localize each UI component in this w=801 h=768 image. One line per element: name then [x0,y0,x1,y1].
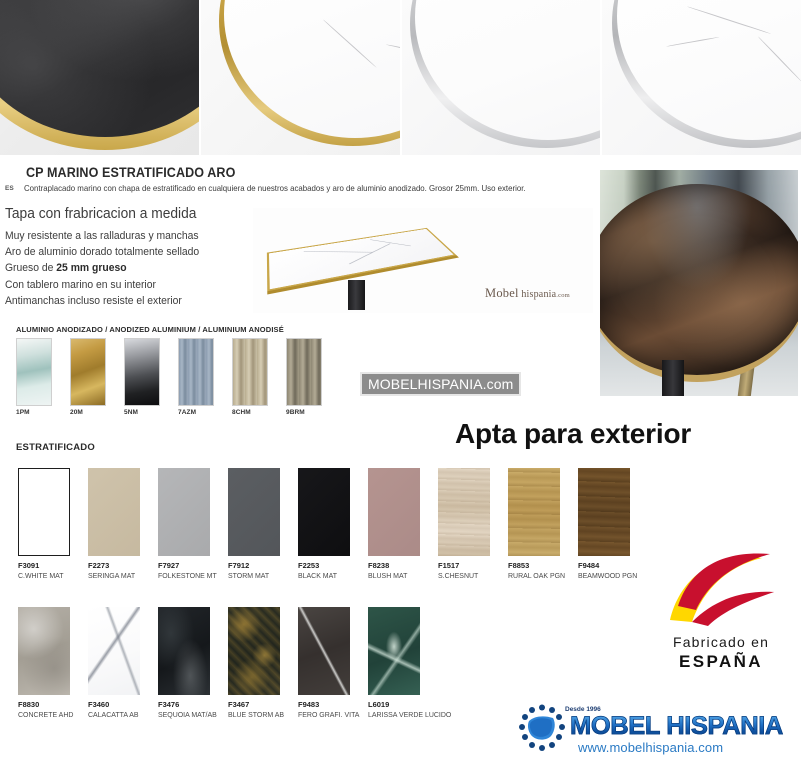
white-top-shape [415,0,601,140]
product-description: Contraplacado marino con chapa de estrat… [24,184,571,194]
laminate-swatch-name: S.CHESNUT [438,571,506,580]
aluminium-swatch-code: 20M [70,409,106,416]
made-in-spain-badge: Fabricado en ESPAÑA [648,548,794,680]
laminate-swatch-chip[interactable] [298,607,350,695]
white-marble-top-shape [617,0,801,140]
aluminium-section-heading: ALUMINIO ANODIZADO / ANODIZED ALUMINIUM … [16,325,284,334]
laminate-swatch-row-2: F8830 CONCRETE AHD F3460 CALACATTA AB F3… [18,607,438,719]
laminate-swatch-code: F3460 [88,700,158,709]
laminate-swatch-item[interactable]: F3476 SEQUOIA MAT/AB [158,607,228,719]
feature-item: Antimanchas incluso resiste el exterior [5,293,245,309]
laminate-swatch-item[interactable]: F9484 BEAMWOOD PGN [578,468,648,580]
laminate-swatch-code: F2253 [298,561,368,570]
laminate-swatch-chip[interactable] [18,468,70,556]
laminate-swatch-name: CONCRETE AHD [18,710,86,719]
aluminium-swatch-item[interactable]: 8CHM [232,338,268,416]
laminate-swatch-item[interactable]: F3091 C.WHITE MAT [18,468,88,580]
aluminium-swatch-code: 9BRM [286,409,322,416]
laminate-swatch-chip[interactable] [158,468,210,556]
hero-image-white-marble-gold-rim [201,0,400,155]
aluminium-swatch-code: 1PM [16,409,52,416]
hero-image-strip [0,0,801,155]
laminate-swatch-row-1: F3091 C.WHITE MAT F2273 SERINGA MAT F792… [18,468,648,580]
hero-image-white-plain-silver-rim [402,0,601,155]
aluminium-swatch-chip[interactable] [16,338,52,406]
aluminium-swatch-chip[interactable] [286,338,322,406]
laminate-swatch-code: F1517 [438,561,508,570]
laminate-swatch-code: F3476 [158,700,228,709]
laminate-swatch-name: BLACK MAT [298,571,366,580]
laminate-swatch-item[interactable]: F9483 FERO GRAFI. VITA [298,607,368,719]
made-in-line1: Fabricado en [648,634,794,650]
aluminium-swatch-item[interactable]: 7AZM [178,338,214,416]
laminate-swatch-chip[interactable] [88,468,140,556]
aluminium-swatch-code: 7AZM [178,409,214,416]
laminate-swatch-item[interactable]: F3460 CALACATTA AB [88,607,158,719]
hero-image-white-marble-silver-rim [602,0,801,155]
laminate-swatch-name: RURAL OAK PGN [508,571,576,580]
laminate-swatch-chip[interactable] [158,607,210,695]
feature-item: Aro de aluminio dorado totalmente sellad… [5,244,245,260]
laminate-swatch-name: SERINGA MAT [88,571,156,580]
brand-name: MOBEL HISPANIA [570,712,783,741]
laminate-swatch-name: BLUSH MAT [368,571,436,580]
laminate-swatch-chip[interactable] [18,607,70,695]
aluminium-swatch-code: 8CHM [232,409,268,416]
laminate-swatch-name: LARISSA VERDE LUCIDO [368,710,436,719]
spain-flag-icon [662,548,782,628]
hero-image-black-marble-gold-rim [0,0,199,155]
features-list: Muy resistente a las ralladuras y mancha… [5,228,255,309]
laminate-swatch-code: F7912 [228,561,298,570]
brand-logo[interactable]: Desde 1996 MOBEL HISPANIA www.mobelhispa… [518,700,793,760]
catalog-page: CP MARINO ESTRATIFICADO ARO ES Contrapla… [0,0,801,768]
laminate-swatch-name: STORM MAT [228,571,296,580]
spain-globe-icon [518,704,566,752]
aluminium-swatch-chip[interactable] [70,338,106,406]
laminate-swatch-item[interactable]: F1517 S.CHESNUT [438,468,508,580]
laminate-swatch-item[interactable]: F2253 BLACK MAT [298,468,368,580]
feature-item: Grueso de 25 mm grueso [5,260,245,276]
made-in-line2: ESPAÑA [648,652,794,672]
laminate-swatch-chip[interactable] [438,468,490,556]
laminate-swatch-code: F8830 [18,700,88,709]
feature-item: Con tablero marino en su interior [5,277,245,293]
product-photo-square-table: Mobel hispania.com [253,208,593,313]
laminate-swatch-item[interactable]: F7912 STORM MAT [228,468,298,580]
laminate-swatch-chip[interactable] [368,468,420,556]
laminate-swatch-chip[interactable] [228,468,280,556]
laminate-swatch-code: L6019 [368,700,438,709]
laminate-swatch-item[interactable]: F3467 BLUE STORM AB [228,607,298,719]
laminate-swatch-code: F8853 [508,561,578,570]
laminate-section-heading: ESTRATIFICADO [16,442,95,453]
laminate-swatch-code: F7927 [158,561,228,570]
aluminium-swatch-item[interactable]: 5NM [124,338,160,416]
laminate-swatch-chip[interactable] [88,607,140,695]
aluminium-swatch-item[interactable]: 20M [70,338,106,416]
table-base-shape [662,360,684,396]
aluminium-swatch-item[interactable]: 9BRM [286,338,322,416]
laminate-swatch-name: FOLKESTONE MT [158,571,226,580]
table-leg-shape [348,280,365,310]
laminate-swatch-item[interactable]: F7927 FOLKESTONE MT [158,468,228,580]
aluminium-swatch-chip[interactable] [178,338,214,406]
dark-marble-top-shape [600,184,798,382]
laminate-swatch-chip[interactable] [228,607,280,695]
center-watermark: MOBELHISPANIA.com [360,372,521,396]
laminate-swatch-chip[interactable] [368,607,420,695]
laminate-swatch-code: F9483 [298,700,368,709]
laminate-swatch-name: CALACATTA AB [88,710,156,719]
laminate-swatch-name: FERO GRAFI. VITA [298,710,366,719]
exterior-claim: Apta para exterior [455,418,691,450]
laminate-swatch-item[interactable]: F8830 CONCRETE AHD [18,607,88,719]
laminate-swatch-code: F8238 [368,561,438,570]
aluminium-swatch-item[interactable]: 1PM [16,338,52,416]
lifestyle-photo-dark-marble-table [600,170,798,396]
laminate-swatch-item[interactable]: L6019 LARISSA VERDE LUCIDO [368,607,438,719]
black-marble-top-shape [0,0,199,137]
laminate-swatch-code: F3467 [228,700,298,709]
laminate-swatch-code: F3091 [18,561,88,570]
photo-watermark: Mobel hispania.com [485,286,570,301]
laminate-swatch-name: BEAMWOOD PGN [578,571,646,580]
white-marble-top-shape [224,0,400,138]
laminate-swatch-code: F2273 [88,561,158,570]
laminate-swatch-item[interactable]: F8853 RURAL OAK PGN [508,468,578,580]
laminate-swatch-name: BLUE STORM AB [228,710,296,719]
marble-veins [224,0,400,138]
feature-item: Muy resistente a las ralladuras y mancha… [5,228,245,244]
brand-url[interactable]: www.mobelhispania.com [578,740,723,755]
laminate-swatch-code: F9484 [578,561,648,570]
laminate-swatch-item[interactable]: F2273 SERINGA MAT [88,468,158,580]
features-heading: Tapa con frabricacion a medida [5,206,196,222]
aluminium-swatch-row: 1PM 20M 5NM 7AZM 8CHM 9BRM [16,338,322,416]
marble-veins [617,0,801,140]
page-title: CP MARINO ESTRATIFICADO ARO [26,165,235,180]
laminate-swatch-name: SEQUOIA MAT/AB [158,710,226,719]
aluminium-swatch-chip[interactable] [232,338,268,406]
laminate-swatch-item[interactable]: F8238 BLUSH MAT [368,468,438,580]
aluminium-swatch-code: 5NM [124,409,160,416]
laminate-swatch-chip[interactable] [298,468,350,556]
aluminium-swatch-chip[interactable] [124,338,160,406]
language-tag: ES [5,185,14,192]
laminate-swatch-name: C.WHITE MAT [18,571,86,580]
laminate-swatch-chip[interactable] [508,468,560,556]
laminate-swatch-chip[interactable] [578,468,630,556]
